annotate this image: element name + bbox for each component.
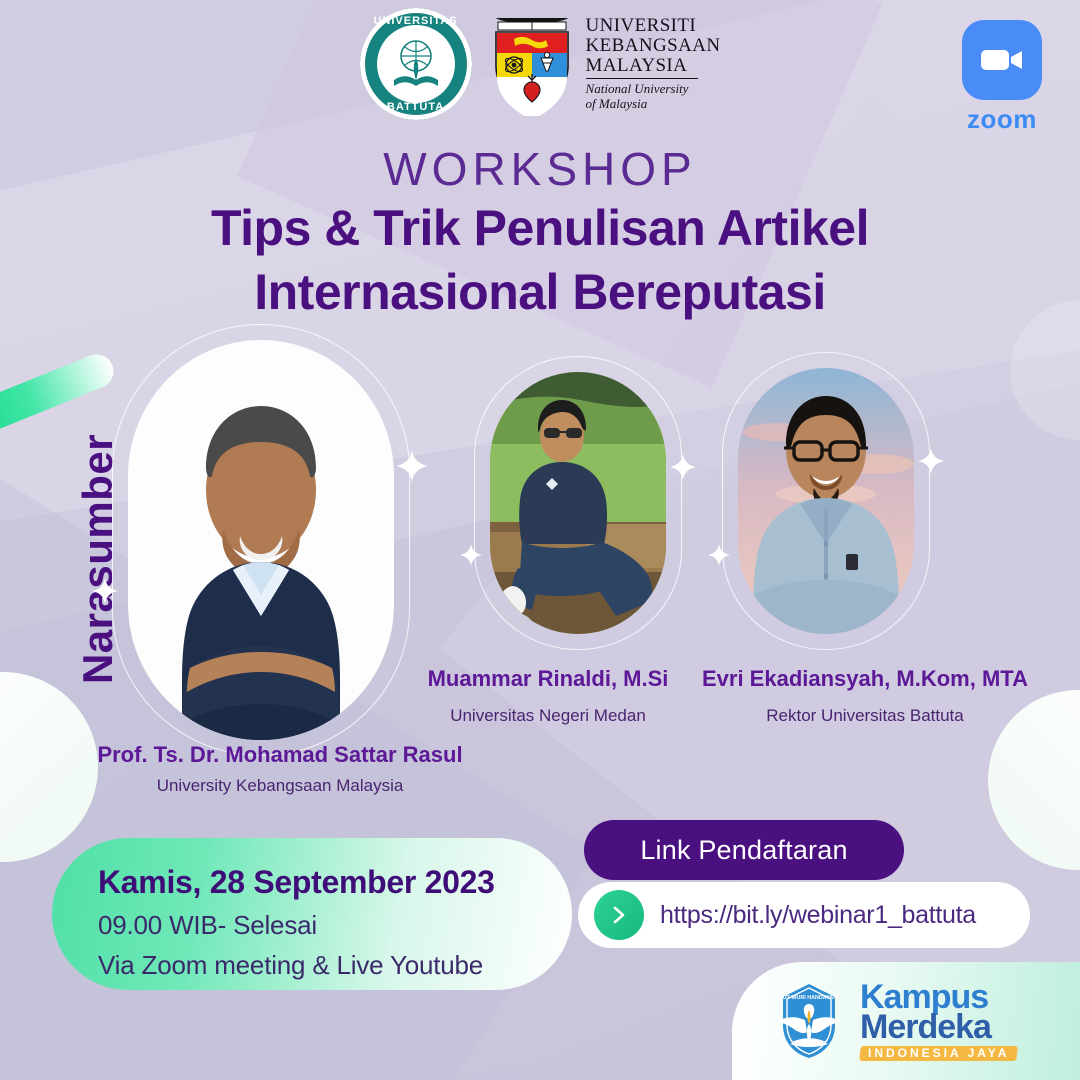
speaker-affiliation-2: Universitas Negeri Medan xyxy=(400,706,696,726)
svg-text:TUT WURI HANDAYANI: TUT WURI HANDAYANI xyxy=(779,995,839,1001)
speaker-photo-frame xyxy=(128,340,394,740)
page-title-line-2: Internasional Bereputasi xyxy=(0,260,1080,324)
kampus-merdeka-logo-panel: TUT WURI HANDAYANI Kampus Merdeka INDONE… xyxy=(732,962,1080,1080)
speaker-name-3: Evri Ekadiansyah, M.Kom, MTA xyxy=(672,666,1058,692)
speaker-photo-mohamad-sattar-rasul xyxy=(128,340,394,740)
zoom-wordmark: zoom xyxy=(950,104,1054,135)
speaker-card-1 xyxy=(128,340,394,740)
event-info-pill: Kamis, 28 September 2023 09.00 WIB- Sele… xyxy=(52,838,572,990)
chevron-right-icon[interactable] xyxy=(594,890,644,940)
speaker-affiliation-1: University Kebangsaan Malaysia xyxy=(0,776,560,796)
ukm-line-1: UNIVERSITI xyxy=(586,16,721,35)
speaker-photo-evri-ekadiansyah xyxy=(738,368,914,634)
decorative-green-streak xyxy=(0,349,119,440)
page-kicker: WORKSHOP xyxy=(0,142,1080,196)
event-platform: Via Zoom meeting & Live Youtube xyxy=(98,950,572,981)
tut-wuri-handayani-seal-icon: TUT WURI HANDAYANI xyxy=(770,982,848,1060)
kampus-merdeka-ribbon-text: INDONESIA JAYA xyxy=(868,1048,1009,1059)
ukm-shield-crest-icon xyxy=(488,12,576,116)
registration-link-button[interactable]: Link Pendaftaran xyxy=(584,820,904,880)
logo-row: UNIVERSITAS BATTUTA xyxy=(0,8,1080,120)
event-date: Kamis, 28 September 2023 xyxy=(98,864,572,901)
kampus-merdeka-line-2: Merdeka xyxy=(860,1011,1017,1043)
ukm-logo: UNIVERSITI KEBANGSAAN MALAYSIA National … xyxy=(488,12,721,116)
speaker-card-3 xyxy=(738,368,914,634)
event-time: 09.00 WIB- Selesai xyxy=(98,910,572,941)
ukm-subline-2: of Malaysia xyxy=(586,97,721,112)
ukm-divider xyxy=(586,78,698,80)
speaker-photo-frame xyxy=(738,368,914,634)
speaker-affiliation-3: Rektor Universitas Battuta xyxy=(672,706,1058,726)
ukm-line-3: MALAYSIA xyxy=(586,56,721,75)
kampus-merdeka-ribbon: INDONESIA JAYA xyxy=(859,1046,1018,1061)
registration-url-bar[interactable]: https://bit.ly/webinar1_battuta xyxy=(578,882,1030,948)
battuta-university-seal-icon: UNIVERSITAS BATTUTA xyxy=(360,8,472,120)
zoom-logo: zoom xyxy=(950,20,1054,135)
zoom-video-camera-icon xyxy=(962,20,1042,100)
page-title-line-1: Tips & Trik Penulisan Artikel xyxy=(0,196,1080,260)
speaker-card-2 xyxy=(490,372,666,634)
battuta-seal-emblem xyxy=(377,25,455,103)
registration-url[interactable]: https://bit.ly/webinar1_battuta xyxy=(660,901,976,930)
speaker-photo-muammar-rinaldi xyxy=(490,372,666,634)
kampus-merdeka-wordmark: Kampus Merdeka INDONESIA JAYA xyxy=(860,981,1017,1061)
ukm-subline-1: National University xyxy=(586,82,721,97)
speaker-photo-frame xyxy=(490,372,666,634)
ukm-wordmark: UNIVERSITI KEBANGSAAN MALAYSIA National … xyxy=(586,16,721,112)
ukm-line-2: KEBANGSAAN xyxy=(586,36,721,55)
speaker-name-1: Prof. Ts. Dr. Mohamad Sattar Rasul xyxy=(0,742,560,768)
speaker-name-2: Muammar Rinaldi, M.Si xyxy=(400,666,696,692)
page-title: Tips & Trik Penulisan Artikel Internasio… xyxy=(0,196,1080,324)
webinar-poster: UNIVERSITAS BATTUTA xyxy=(0,0,1080,1080)
